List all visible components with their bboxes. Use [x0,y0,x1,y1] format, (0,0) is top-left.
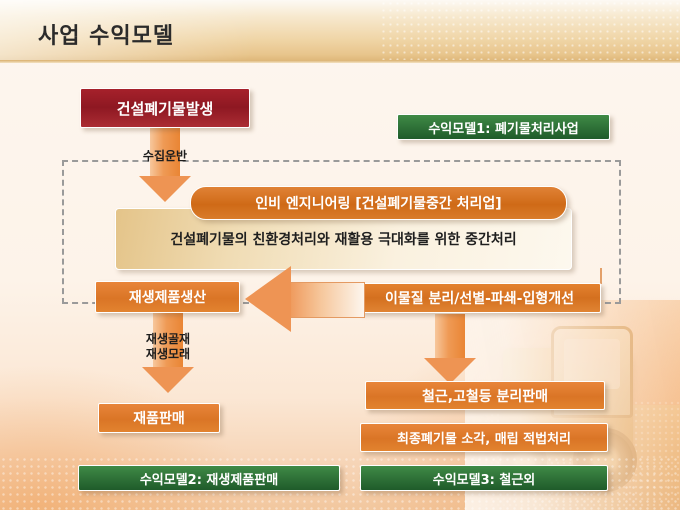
revenue-model-2-bar[interactable]: 수익모델2: 재생제품판매 [78,465,340,491]
header-underline [0,60,680,63]
final-waste-disposal-box[interactable]: 최종폐기물 소각, 매립 적법처리 [360,423,608,452]
product-sales-box[interactable]: 재품판매 [98,403,220,433]
revenue-model-3-bar[interactable]: 수익모델3: 철근외 [360,465,608,491]
recycled-output-label: 재생골재 재생모래 [118,332,218,362]
company-description-text: 건설폐기물의 친환경처리와 재활용 극대화를 위한 중간처리 [170,229,516,249]
process-separation-box[interactable]: 이물질 분리/선별-파쇄-입형개선 [358,283,601,313]
slide-canvas: 사업 수익모델 수익모델1: 폐기물처리사업 건설폐기물발생 수집운반 건설폐기… [0,0,680,510]
metal-separation-sales-box[interactable]: 철근,고철등 분리판매 [365,381,605,410]
process-to-metal-arrow-down [420,314,480,386]
revenue-model-1-bar[interactable]: 수익모델1: 폐기물처리사업 [397,114,610,140]
company-name-pill[interactable]: 인비 엔지니어링 [건설폐기물중간 처리업] [190,186,567,220]
source-waste-box[interactable]: 건설폐기물발생 [80,88,250,128]
arrow-shaft [286,282,365,318]
arrow-head [245,266,291,332]
recycled-production-box[interactable]: 재생제품생산 [95,281,240,313]
transport-arrow-down [135,128,195,202]
transport-arrow-label: 수집운반 [125,149,205,164]
recycled-output-line-1: 재생골재 [118,332,218,347]
card-to-process-connector [600,268,602,284]
recycle-flow-arrow-left [245,266,365,332]
recycled-output-line-2: 재생모래 [118,347,218,362]
page-title: 사업 수익모델 [38,18,174,50]
